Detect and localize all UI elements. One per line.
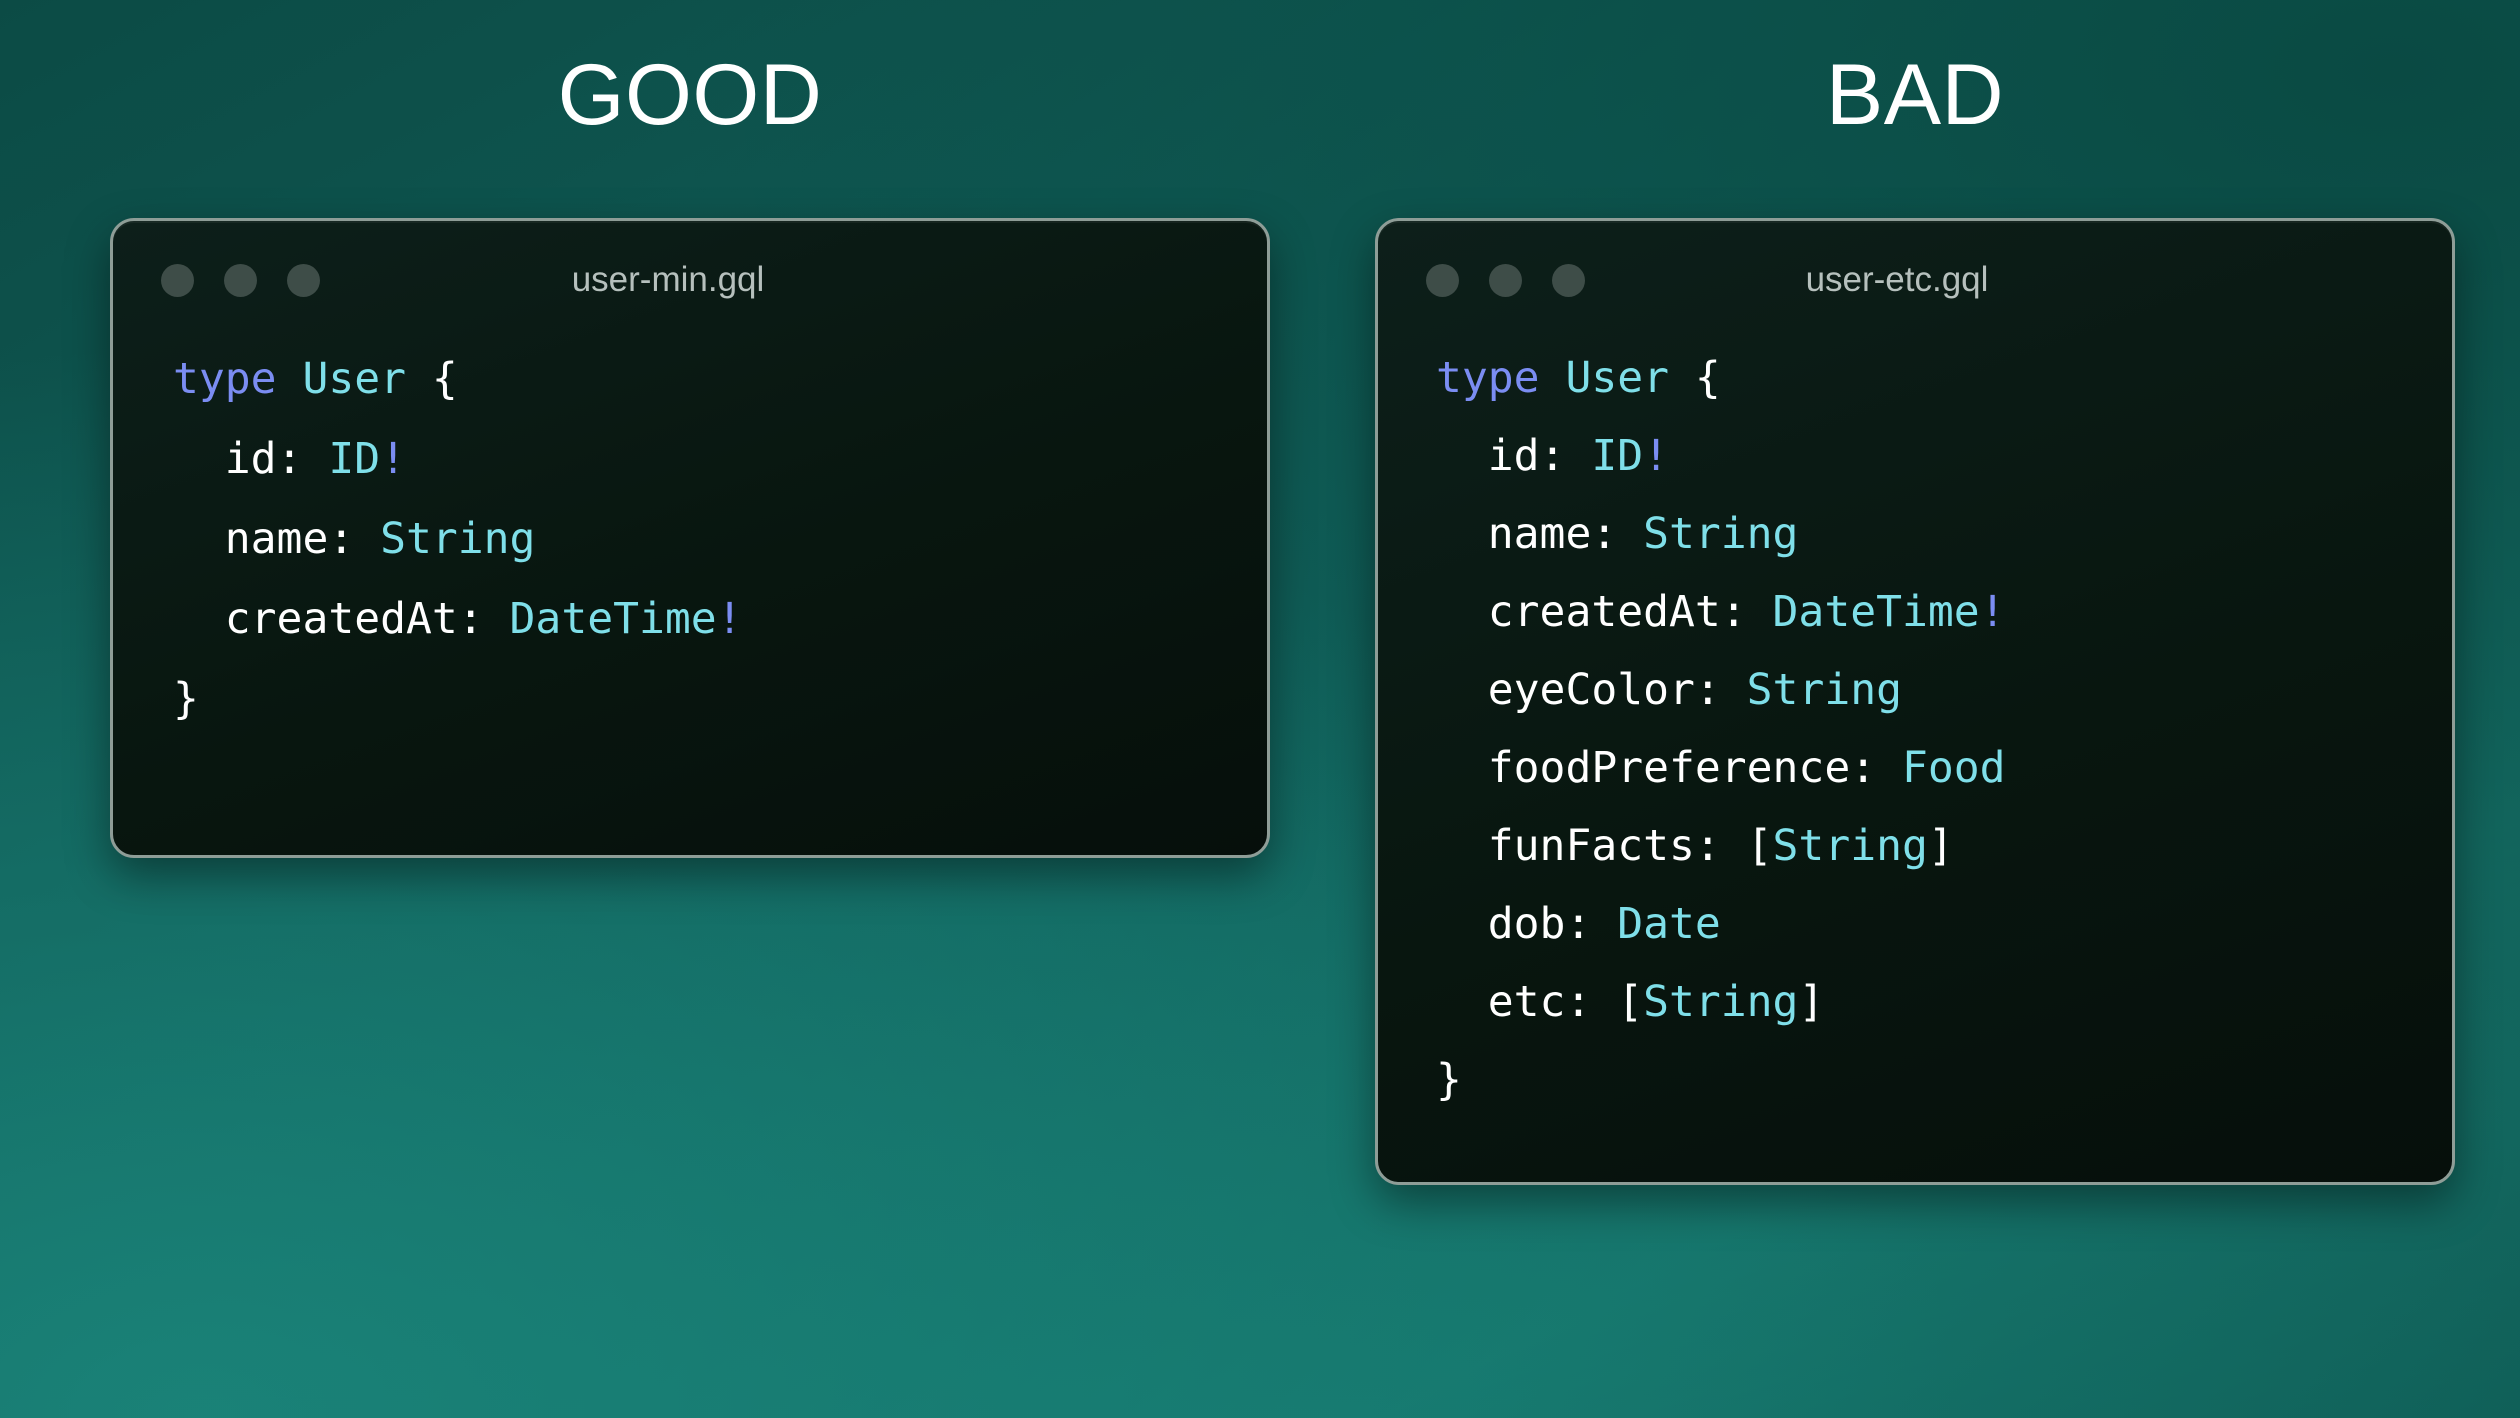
code-token-bang: ! xyxy=(717,594,743,644)
code-line: eyeColor: String xyxy=(1436,651,2452,729)
code-token-punc: { xyxy=(1669,353,1721,403)
minimize-dot-icon[interactable] xyxy=(224,264,257,297)
code-token-type: User xyxy=(1565,353,1669,403)
code-token-punc: } xyxy=(173,674,199,724)
code-line: type User { xyxy=(173,339,1267,419)
code-token-type: ID xyxy=(1591,431,1643,481)
code-line: } xyxy=(173,659,1267,739)
code-token-punc xyxy=(277,354,303,404)
code-token-type: ID xyxy=(328,434,380,484)
code-token-name: name: xyxy=(173,514,380,564)
code-token-punc: ] xyxy=(1928,821,1954,871)
code-line: type User { xyxy=(1436,339,2452,417)
code-token-name: createdAt: xyxy=(1436,587,1773,637)
code-token-name: id: xyxy=(1436,431,1591,481)
code-line: createdAt: DateTime! xyxy=(1436,573,2452,651)
code-token-kw: type xyxy=(173,354,277,404)
good-heading: GOOD xyxy=(110,52,1270,138)
code-block-bad: type User { id: ID! name: String created… xyxy=(1378,339,2452,1119)
code-token-bang: ! xyxy=(1643,431,1669,481)
window-controls-bad xyxy=(1426,264,1585,297)
code-line: name: String xyxy=(1436,495,2452,573)
code-token-name: eyeColor: xyxy=(1436,665,1747,715)
close-dot-icon[interactable] xyxy=(1426,264,1459,297)
code-token-punc: } xyxy=(1436,1055,1462,1105)
code-line: dob: Date xyxy=(1436,885,2452,963)
code-line: name: String xyxy=(173,499,1267,579)
code-line: funFacts: [String] xyxy=(1436,807,2452,885)
code-block-good: type User { id: ID! name: String created… xyxy=(113,339,1267,739)
window-titlebar-bad: user-etc.gql xyxy=(1378,221,2452,339)
minimize-dot-icon[interactable] xyxy=(1489,264,1522,297)
code-line: etc: [String] xyxy=(1436,963,2452,1041)
code-token-type: DateTime xyxy=(510,594,717,644)
close-dot-icon[interactable] xyxy=(161,264,194,297)
code-token-type: String xyxy=(1773,821,1928,871)
code-token-punc: { xyxy=(406,354,458,404)
code-token-type: DateTime xyxy=(1773,587,1980,637)
code-token-kw: type xyxy=(1436,353,1540,403)
code-line: createdAt: DateTime! xyxy=(173,579,1267,659)
code-token-type: Food xyxy=(1902,743,2006,793)
code-token-type: Date xyxy=(1617,899,1721,949)
code-line: foodPreference: Food xyxy=(1436,729,2452,807)
code-token-name: id: xyxy=(173,434,328,484)
code-token-type: String xyxy=(1643,509,1798,559)
code-line: id: ID! xyxy=(173,419,1267,499)
code-token-name: dob: xyxy=(1436,899,1617,949)
code-token-punc xyxy=(1540,353,1566,403)
code-token-name: name: xyxy=(1436,509,1643,559)
code-token-name: foodPreference: xyxy=(1436,743,1902,793)
maximize-dot-icon[interactable] xyxy=(1552,264,1585,297)
maximize-dot-icon[interactable] xyxy=(287,264,320,297)
code-token-type: String xyxy=(1747,665,1902,715)
code-token-type: String xyxy=(380,514,535,564)
code-token-name: etc: [ xyxy=(1436,977,1643,1027)
code-token-bang: ! xyxy=(380,434,406,484)
window-controls-good xyxy=(161,264,320,297)
code-token-name: funFacts: [ xyxy=(1436,821,1773,871)
code-token-type: String xyxy=(1643,977,1798,1027)
code-token-type: User xyxy=(302,354,406,404)
code-card-good: user-min.gql type User { id: ID! name: S… xyxy=(110,218,1270,858)
code-token-bang: ! xyxy=(1980,587,2006,637)
code-line: } xyxy=(1436,1041,2452,1119)
code-token-punc: ] xyxy=(1798,977,1824,1027)
code-card-bad: user-etc.gql type User { id: ID! name: S… xyxy=(1375,218,2455,1185)
code-token-name: createdAt: xyxy=(173,594,510,644)
bad-heading: BAD xyxy=(1375,52,2455,138)
code-line: id: ID! xyxy=(1436,417,2452,495)
window-titlebar-good: user-min.gql xyxy=(113,221,1267,339)
